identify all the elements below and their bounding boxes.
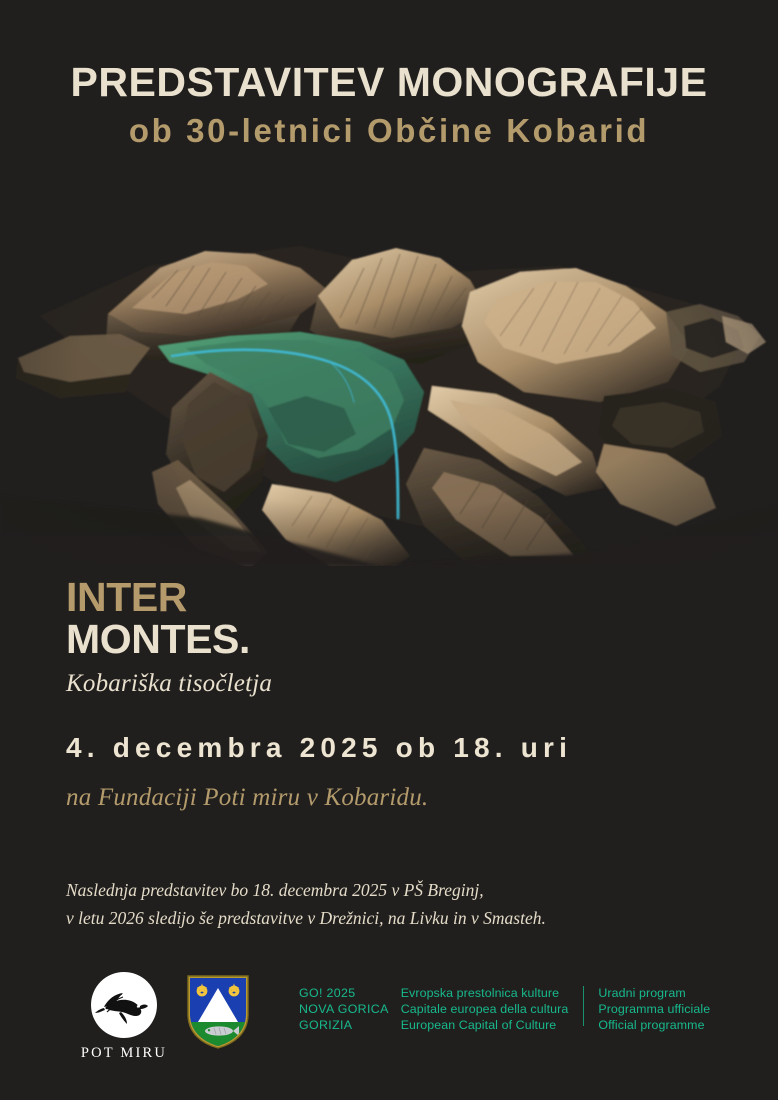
- headline-block: PREDSTAVITEV MONOGRAFIJE ob 30-letnici O…: [0, 62, 778, 148]
- go2025-logotype: GO! 2025 NOVA GORICA GORIZIA: [299, 985, 389, 1033]
- go2025-title-it: Capitale europea della cultura: [401, 1001, 569, 1017]
- event-venue: na Fundaciji Poti miru v Kobaridu.: [66, 784, 726, 812]
- coat-of-arms-svg: [186, 974, 250, 1050]
- go2025-title-en: European Capital of Culture: [401, 1017, 569, 1033]
- go2025-logotype-line-1: GO! 2025: [299, 985, 389, 1001]
- go2025-programme-en: Official programme: [598, 1017, 710, 1033]
- page-title: PREDSTAVITEV MONOGRAFIJE: [0, 62, 778, 104]
- note-line-1: Naslednja predstavitev bo 18. decembra 2…: [66, 876, 726, 904]
- go2025-titles: Evropska prestolnica kulture Capitale eu…: [401, 985, 569, 1033]
- dove-icon: [91, 972, 157, 1038]
- go2025-title-si: Evropska prestolnica kulture: [401, 985, 569, 1001]
- lead-line-montes: MONTES.: [66, 620, 726, 660]
- note-line-2: v letu 2026 sledijo še predstavitve v Dr…: [66, 904, 726, 932]
- pot-miru-label: POT MIRU: [66, 1045, 182, 1062]
- book-subtitle: Kobariška tisočletja: [66, 670, 726, 698]
- poster-root: PREDSTAVITEV MONOGRAFIJE ob 30-letnici O…: [0, 0, 778, 1100]
- body-block: INTER MONTES. Kobariška tisočletja 4. de…: [66, 578, 726, 812]
- relief-map-image: [0, 196, 778, 566]
- page-subtitle: ob 30-letnici Občine Kobarid: [0, 114, 778, 149]
- go2025-logotype-line-3: GORIZIA: [299, 1017, 389, 1033]
- go2025-programme-it: Programma ufficiale: [598, 1001, 710, 1017]
- footer-logos: POT MIRU: [0, 968, 778, 1078]
- coat-of-arms: [186, 974, 250, 1050]
- event-date: 4. decembra 2025 ob 18. uri: [66, 732, 726, 764]
- go2025-logotype-line-2: NOVA GORICA: [299, 1001, 389, 1017]
- upcoming-events-note: Naslednja predstavitev bo 18. decembra 2…: [66, 876, 726, 933]
- relief-map-svg: [0, 196, 778, 566]
- go2025-programme-si: Uradni program: [598, 985, 710, 1001]
- pot-miru-logo: POT MIRU: [66, 972, 182, 1062]
- dove-icon-svg: [91, 972, 157, 1038]
- lead-line-inter: INTER: [66, 578, 726, 618]
- go2025-programme: Uradni program Programma ufficiale Offic…: [598, 985, 710, 1033]
- go2025-divider: [583, 986, 584, 1026]
- go2025-lockup: GO! 2025 NOVA GORICA GORIZIA Evropska pr…: [299, 985, 710, 1033]
